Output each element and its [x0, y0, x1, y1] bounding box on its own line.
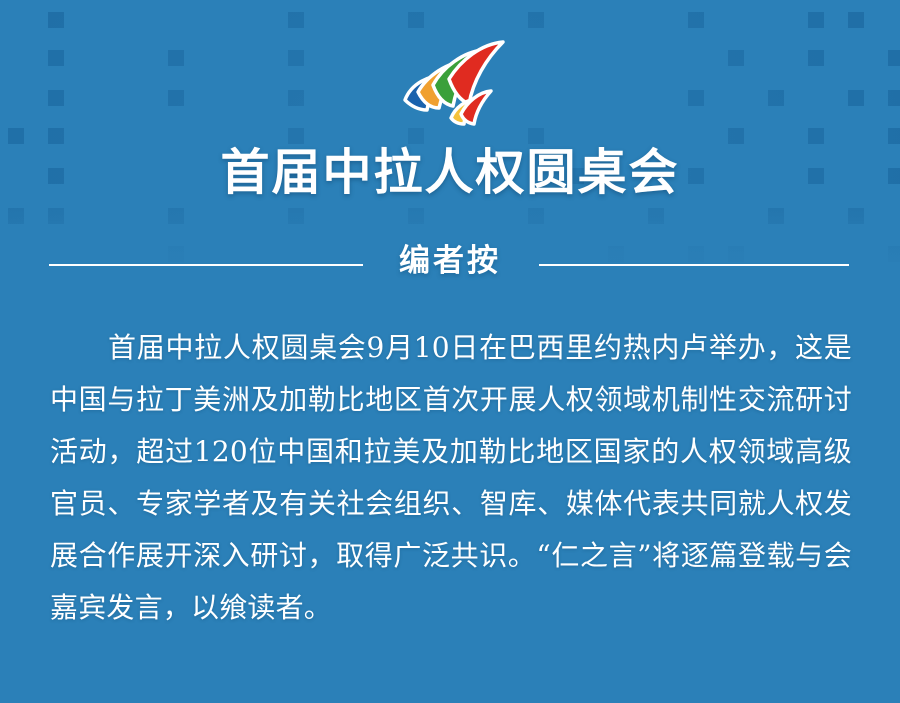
- pattern-square: [528, 12, 544, 28]
- pattern-square: [848, 12, 864, 28]
- pattern-square: [408, 12, 424, 28]
- pattern-square: [848, 208, 864, 224]
- poster-canvas: 首届中拉人权圆桌会 编者按 首届中拉人权圆桌会9月10日在巴西里约热内卢举办，这…: [0, 0, 900, 703]
- pattern-square: [8, 208, 24, 224]
- pattern-square: [168, 208, 184, 224]
- editor-note-label: 编者按: [0, 238, 900, 284]
- pattern-square: [288, 12, 304, 28]
- editor-note-paragraph: 首届中拉人权圆桌会9月10日在巴西里约热内卢举办，这是中国与拉丁美洲及加勒比地区…: [50, 322, 852, 634]
- pattern-square: [768, 208, 784, 224]
- pattern-square: [288, 208, 304, 224]
- editor-note-band: 编者按: [0, 242, 900, 288]
- pattern-square: [408, 208, 424, 224]
- pattern-square: [528, 208, 544, 224]
- logo: [0, 34, 900, 138]
- pattern-square: [48, 208, 64, 224]
- pattern-square: [688, 12, 704, 28]
- pattern-square: [648, 208, 664, 224]
- pattern-square: [808, 12, 824, 28]
- roundtable-emblem-icon: [385, 34, 515, 134]
- pattern-square: [48, 12, 64, 28]
- page-title: 首届中拉人权圆桌会: [0, 143, 900, 203]
